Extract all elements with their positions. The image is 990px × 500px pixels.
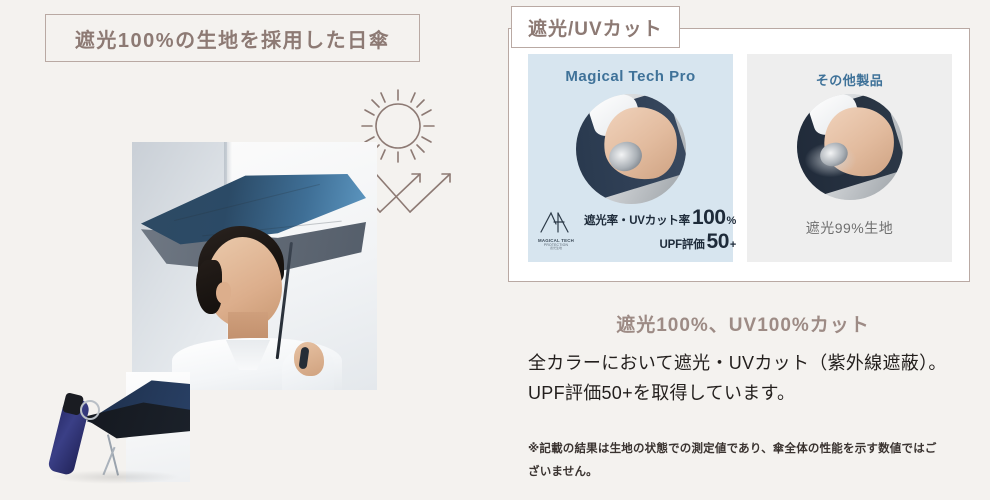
description-body: 全カラーにおいて遮光・UVカット（紫外線遮蔽）。UPF評価50+を取得しています… [528, 349, 958, 408]
stat-label-upf: UPF評価 [660, 236, 705, 252]
folded-umbrella-inset-photo [30, 372, 190, 500]
logo-line-3: 遮光生地 [534, 247, 578, 250]
card-caption-other-products: 遮光99%生地 [747, 218, 952, 238]
comparison-card-other-products: その他製品 遮光99%生地 [747, 54, 952, 262]
tab-uv-cut[interactable]: 遮光/UVカット [511, 6, 680, 48]
stat-row-shading: 遮光率・UVカット率 100 % [584, 206, 736, 230]
fabric-test-photo-pro [576, 94, 686, 204]
stat-row-upf: UPF評価 50 + [584, 230, 736, 254]
stat-label-shading: 遮光率・UVカット率 [584, 212, 690, 228]
section-title-box: 遮光100%の生地を採用した日傘 [45, 14, 420, 62]
main-product-photo [132, 142, 377, 390]
comparison-cards: Magical Tech Pro MAGICAL TECH PROTECTION… [528, 54, 952, 262]
magical-tech-logo-icon: MAGICAL TECH PROTECTION 遮光生地 [534, 210, 578, 250]
stats-row-pro: MAGICAL TECH PROTECTION 遮光生地 遮光率・UVカット率 … [534, 206, 727, 254]
stat-unit-shading: % [727, 215, 737, 227]
stat-value-upf: 50 [707, 230, 729, 254]
card-title-other-products: その他製品 [747, 70, 952, 89]
fabric-test-photo-other [797, 94, 903, 200]
disclaimer-note: ※記載の結果は生地の状態での測定値であり、傘全体の性能を示す数値ではございません… [528, 438, 948, 484]
stat-unit-upf: + [730, 239, 736, 251]
card-title-magical-tech-pro: Magical Tech Pro [528, 68, 733, 85]
page-title: 遮光100%の生地を採用した日傘 [75, 24, 390, 53]
description-block: 遮光100%、UV100%カット 全カラーにおいて遮光・UVカット（紫外線遮蔽）… [528, 310, 958, 408]
stat-value-shading: 100 [692, 206, 726, 230]
description-heading: 遮光100%、UV100%カット [528, 310, 958, 337]
left-column: 遮光100%の生地を採用した日傘 [0, 0, 495, 500]
tab-uv-cut-label: 遮光/UVカット [528, 14, 663, 41]
comparison-card-magical-tech-pro: Magical Tech Pro MAGICAL TECH PROTECTION… [528, 54, 733, 262]
